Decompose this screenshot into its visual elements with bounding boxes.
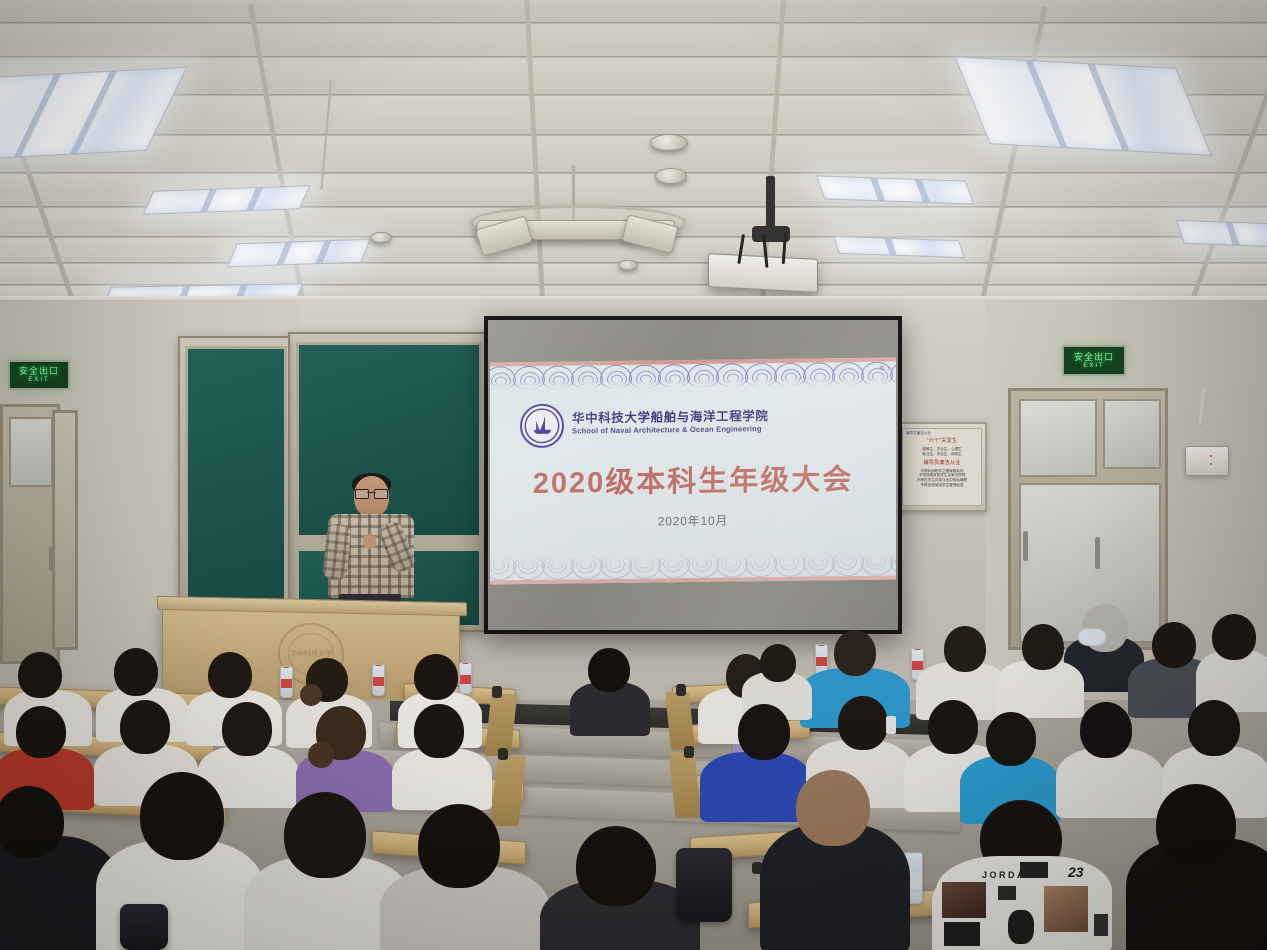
slide-org-name-en: School of Naval Architecture & Ocean Eng… bbox=[572, 424, 762, 435]
lecture-hall-photo: 安全出口 EXIT 安全出口 EXIT 辅导员廉洁从业 "六个"关爱生 困难生、… bbox=[0, 0, 1267, 950]
audience-head bbox=[1022, 624, 1064, 670]
audience-head bbox=[838, 696, 888, 750]
audience-head bbox=[140, 772, 224, 860]
audience-member bbox=[1056, 748, 1164, 818]
audience-head bbox=[1152, 622, 1196, 668]
audience-head bbox=[986, 712, 1036, 766]
exit-sign-left: 安全出口 EXIT bbox=[8, 360, 70, 390]
notice-heading-1: "六个"关爱生 bbox=[927, 438, 958, 444]
audience-head bbox=[760, 644, 796, 682]
audience-head bbox=[414, 654, 458, 700]
exit-sign-right: 安全出口 EXIT bbox=[1062, 345, 1126, 376]
slide-date: 2020年10月 bbox=[658, 512, 728, 530]
exit-sign-label-cn: 安全出口 bbox=[1074, 353, 1114, 362]
notice-line-2: 就业生、安全生、网络生 bbox=[922, 452, 962, 457]
ceiling bbox=[0, 0, 1267, 320]
audience-head bbox=[576, 826, 656, 906]
audience-head bbox=[1156, 784, 1236, 866]
audience-head bbox=[414, 704, 464, 758]
audience-head bbox=[120, 700, 170, 754]
audience-head bbox=[1212, 614, 1256, 660]
audience-head bbox=[834, 630, 876, 676]
screen-surface: 图 1 华中科技大学船舶与海洋工程学院 School of Naval Arch… bbox=[488, 320, 898, 630]
hair-clip bbox=[886, 716, 896, 734]
ceiling-light-panel bbox=[227, 239, 371, 268]
presenter bbox=[325, 476, 417, 612]
water-bottle bbox=[280, 666, 293, 698]
audience-head bbox=[1080, 702, 1132, 758]
door-handle[interactable] bbox=[1095, 537, 1100, 569]
audience-head bbox=[16, 706, 66, 758]
projection-screen: 图 1 华中科技大学船舶与海洋工程学院 School of Naval Arch… bbox=[484, 316, 902, 634]
ceiling-light-panel bbox=[1176, 220, 1267, 248]
university-crest-icon bbox=[520, 404, 564, 449]
cloud-pattern-top bbox=[490, 361, 896, 389]
audience-hair-bun bbox=[300, 684, 322, 706]
blackboard-frame-side bbox=[178, 336, 290, 628]
door-frame-left bbox=[52, 410, 78, 650]
audience-head bbox=[738, 704, 790, 760]
presenter-hand bbox=[363, 534, 376, 549]
audience-head bbox=[418, 804, 500, 888]
audience-head bbox=[944, 626, 986, 672]
audience-head bbox=[796, 770, 870, 846]
door-handle[interactable] bbox=[1023, 531, 1028, 561]
face-mask bbox=[1078, 628, 1106, 646]
notice-topline: 辅导员廉洁从业 bbox=[906, 431, 931, 435]
exit-sign-label-en: EXIT bbox=[1083, 363, 1104, 369]
slide-corner-mark: 图 1 bbox=[879, 365, 890, 372]
seat-fixture bbox=[492, 686, 502, 698]
audience-head bbox=[114, 648, 158, 696]
projector bbox=[708, 253, 818, 293]
audience-head bbox=[588, 648, 630, 692]
blackboard-side bbox=[185, 346, 287, 620]
audience-head bbox=[0, 786, 64, 858]
smoke-detector-icon bbox=[618, 260, 638, 270]
ceiling-tile bbox=[0, 0, 1267, 24]
shirt-number: 23 bbox=[1068, 864, 1084, 880]
water-bottle bbox=[459, 662, 472, 694]
slide-org-name-cn: 华中科技大学船舶与海洋工程学院 bbox=[572, 405, 769, 426]
fire-alarm-panel[interactable] bbox=[1185, 446, 1229, 476]
exit-sign-label-en: EXIT bbox=[28, 377, 49, 383]
jordan-graphic-shirt: JORDAN 23 bbox=[936, 856, 1112, 950]
seat-fixture bbox=[498, 748, 508, 760]
seat-fixture bbox=[676, 684, 686, 696]
notice-body-4: 不得违规使用学生管理经费 bbox=[920, 483, 963, 488]
door-window bbox=[1019, 399, 1097, 477]
audience-head bbox=[208, 652, 252, 698]
projector-mount bbox=[766, 176, 775, 232]
notice-heading-2: 辅导员廉洁从业 bbox=[923, 460, 960, 466]
glasses-icon bbox=[355, 489, 388, 497]
smoke-detector-icon bbox=[655, 168, 687, 184]
audience-head bbox=[1188, 700, 1240, 756]
notice-board: 辅导员廉洁从业 "六个"关爱生 困难生、学业生、心理生 就业生、安全生、网络生 … bbox=[897, 422, 987, 512]
audience-head bbox=[284, 792, 366, 878]
smoke-detector-icon bbox=[370, 232, 392, 243]
seat-fixture bbox=[684, 746, 694, 758]
audience-head bbox=[18, 652, 62, 698]
water-bottle bbox=[372, 664, 385, 696]
notice-board-inner: 辅导员廉洁从业 "六个"关爱生 困难生、学业生、心理生 就业生、安全生、网络生 … bbox=[902, 428, 982, 506]
ceiling-tile bbox=[0, 22, 1267, 58]
door-left[interactable] bbox=[0, 404, 60, 664]
sailboat-glyph bbox=[534, 417, 551, 434]
smoke-detector-icon bbox=[650, 134, 688, 151]
audience-head bbox=[222, 702, 272, 756]
slide-title: 2020级本科生年级大会 bbox=[533, 456, 854, 502]
door-window bbox=[1103, 399, 1161, 469]
audience-hair-bun bbox=[308, 742, 334, 768]
ceiling-light-panel bbox=[954, 56, 1212, 156]
backpack bbox=[120, 904, 168, 950]
door-window bbox=[9, 417, 53, 487]
audience-head bbox=[928, 700, 978, 754]
presentation-slide: 图 1 华中科技大学船舶与海洋工程学院 School of Naval Arch… bbox=[490, 358, 896, 585]
backpack bbox=[676, 848, 732, 922]
exit-sign-label-cn: 安全出口 bbox=[19, 367, 59, 376]
